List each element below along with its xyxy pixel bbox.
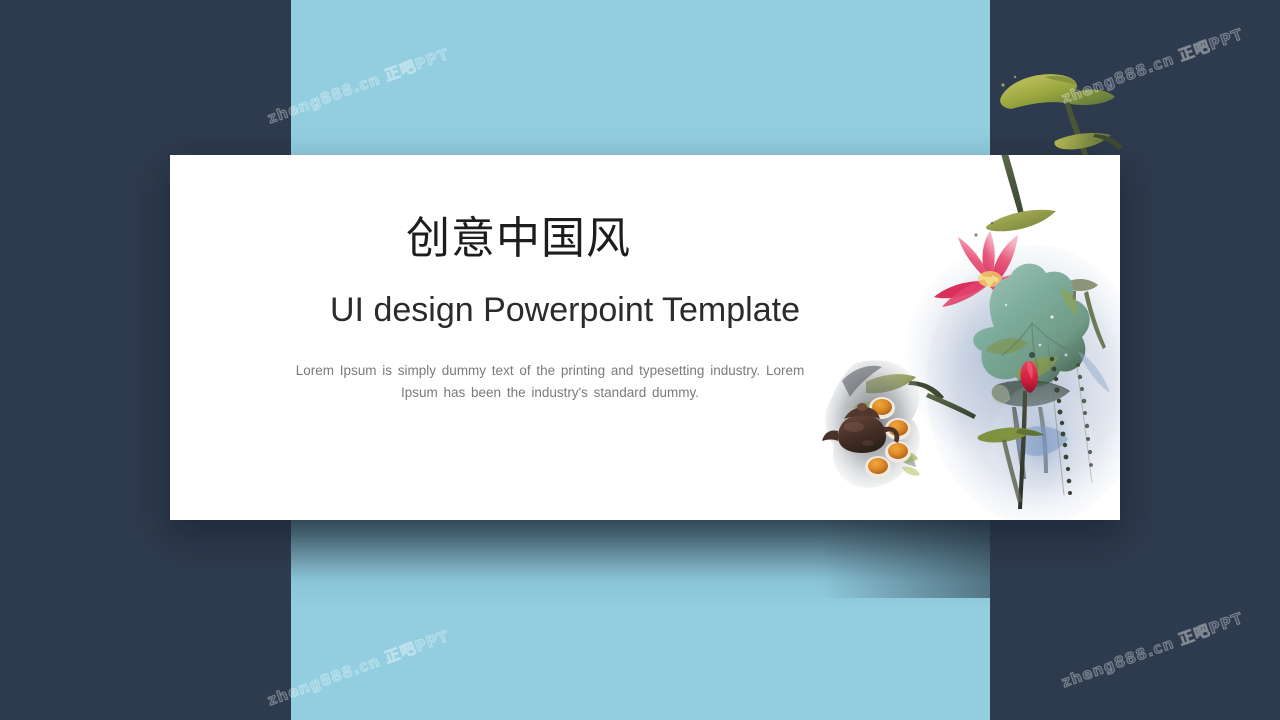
watermark-bottom-right: zheng888.cn 正吧PPT [1058,607,1246,692]
lotus-painting-icon [866,155,1120,520]
text-block: 创意中国风 UI design Powerpoint Template Lore… [170,155,830,520]
page-subtitle: UI design Powerpoint Template [320,293,810,327]
lotus-leaf-overflow-icon [985,55,1170,160]
watermark-top-right: zheng888.cn 正吧PPT [1058,23,1246,108]
presentation-slide: 创意中国风 UI design Powerpoint Template Lore… [0,0,1280,720]
page-title: 创意中国风 [406,217,631,261]
title-card: 创意中国风 UI design Powerpoint Template Lore… [170,155,1120,520]
teapot-illustration-icon [820,355,950,500]
page-description: Lorem Ipsum is simply dummy text of the … [290,360,810,404]
lotus-bud-reeds-icon [960,345,1120,517]
